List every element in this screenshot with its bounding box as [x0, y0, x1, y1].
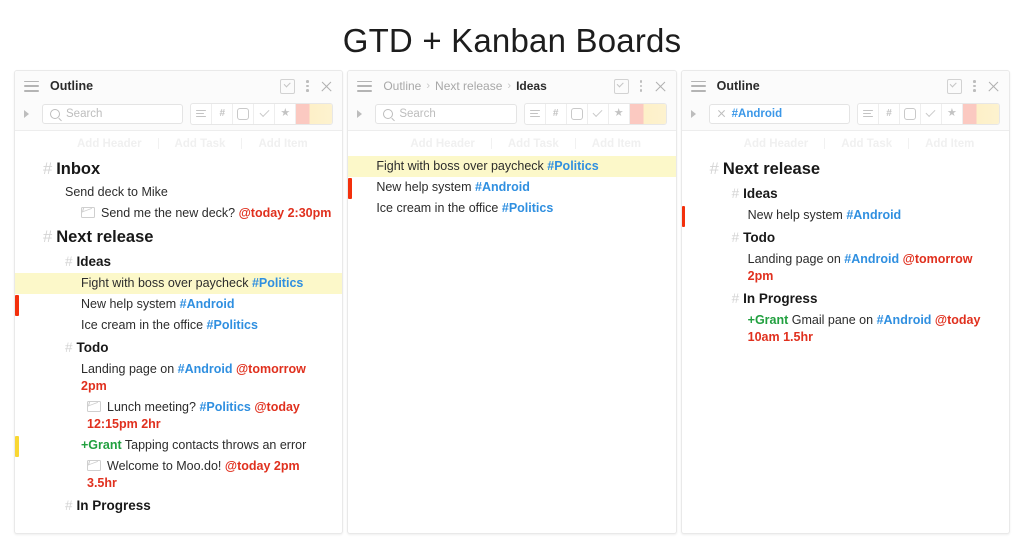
color-swatch[interactable] — [630, 104, 666, 124]
row-item[interactable]: Landing page on #Android @tomorrow 2pm — [682, 249, 1009, 287]
add-row: Add HeaderAdd TaskAdd Item — [15, 131, 342, 153]
hamburger-menu-icon[interactable] — [357, 81, 372, 92]
header-label: In Progress — [77, 498, 151, 513]
row-item[interactable]: Ice cream in the office #Politics — [348, 198, 675, 219]
panel-header: Outline›Next release›IdeasSearch#★ — [348, 71, 675, 131]
kebab-menu-icon[interactable] — [306, 80, 309, 92]
header-label: Next release — [723, 160, 820, 178]
search-placeholder: Search — [399, 108, 435, 120]
tag-label[interactable]: #Politics — [547, 159, 598, 173]
check-icon[interactable] — [921, 104, 942, 124]
add-task-button[interactable]: Add Task — [492, 138, 575, 150]
header-label: Inbox — [56, 160, 100, 178]
hash-icon[interactable]: # — [212, 104, 233, 124]
hash-prefix: # — [43, 228, 52, 246]
panel-header: Outline#Android#★ — [682, 71, 1009, 131]
view-tool-group: #★ — [524, 103, 667, 125]
star-icon[interactable]: ★ — [275, 104, 296, 124]
panel-toolbar: Search#★ — [15, 101, 342, 130]
tag-label[interactable]: #Android — [180, 297, 235, 311]
tag-label[interactable]: #Android — [178, 362, 233, 376]
add-row: Add HeaderAdd TaskAdd Item — [682, 131, 1009, 153]
row-header[interactable]: #In Progress — [15, 494, 342, 517]
hash-prefix: # — [43, 160, 52, 178]
tag-label[interactable]: #Politics — [252, 276, 303, 290]
row-header[interactable]: #Ideas — [15, 250, 342, 273]
flag-marker-red — [348, 178, 352, 199]
tag-label[interactable]: #Android — [846, 208, 901, 222]
hash-prefix: # — [732, 186, 740, 201]
panel-body: Fight with boss over paycheck #PoliticsN… — [348, 153, 675, 533]
item-text: Gmail pane on — [792, 313, 873, 327]
tag-label[interactable]: #Android — [844, 252, 899, 266]
header-icon-group — [280, 79, 333, 94]
rounded-square-icon[interactable] — [567, 104, 588, 124]
panel-body: #InboxSend deck to MikeSend me the new d… — [15, 153, 342, 533]
row-header[interactable]: #In Progress — [682, 287, 1009, 310]
row-item[interactable]: +Grant Tapping contacts throws an error — [15, 435, 342, 456]
flag-marker-red — [15, 295, 19, 316]
expand-caret-icon[interactable] — [691, 110, 696, 118]
rounded-square-icon[interactable] — [233, 104, 254, 124]
breadcrumb: Outline›Next release›Ideas — [383, 79, 546, 93]
search-input[interactable]: #Android — [709, 104, 850, 124]
search-placeholder: Search — [66, 108, 102, 120]
add-task-button[interactable]: Add Task — [159, 138, 242, 150]
panel-android: Outline#Android#★Add HeaderAdd TaskAdd I… — [681, 70, 1010, 534]
breadcrumb-item[interactable]: Outline — [383, 79, 421, 93]
row-item[interactable]: Fight with boss over paycheck #Politics — [15, 273, 342, 294]
item-text: Ice cream in the office — [81, 318, 203, 332]
envelope-icon — [81, 207, 95, 218]
add-row: Add HeaderAdd TaskAdd Item — [348, 131, 675, 153]
panel-outline: OutlineSearch#★Add HeaderAdd TaskAdd Ite… — [14, 70, 343, 534]
item-text: Fight with boss over paycheck — [81, 276, 248, 290]
row-item[interactable]: New help system #Android — [348, 177, 675, 198]
add-header-button[interactable]: Add Header — [394, 138, 491, 150]
panel-toolbar: #Android#★ — [682, 101, 1009, 130]
item-text: Landing page on — [81, 362, 174, 376]
hash-prefix: # — [65, 340, 73, 355]
hash-icon[interactable]: # — [546, 104, 567, 124]
add-task-button[interactable]: Add Task — [825, 138, 908, 150]
row-item[interactable]: New help system #Android — [682, 205, 1009, 226]
header-label: Ideas — [743, 186, 778, 201]
item-text: Landing page on — [748, 252, 841, 266]
row-header[interactable]: #Next release — [682, 156, 1009, 182]
search-icon — [50, 109, 60, 119]
hamburger-menu-icon[interactable] — [691, 81, 706, 92]
star-icon[interactable]: ★ — [942, 104, 963, 124]
add-header-button[interactable]: Add Header — [61, 138, 158, 150]
flag-marker-red — [682, 206, 686, 227]
breadcrumb-item[interactable]: Next release — [435, 79, 502, 93]
breadcrumb-separator: › — [507, 80, 511, 92]
close-icon[interactable] — [320, 80, 333, 93]
panel-title: Outline — [717, 79, 760, 93]
flag-marker-yellow — [15, 436, 19, 457]
add-header-button[interactable]: Add Header — [728, 138, 825, 150]
hash-prefix: # — [710, 160, 719, 178]
panel-title-row: Outline — [682, 71, 1009, 101]
lines-icon[interactable] — [191, 104, 212, 124]
search-icon — [383, 109, 393, 119]
kebab-menu-icon[interactable] — [973, 80, 976, 92]
hamburger-menu-icon[interactable] — [24, 81, 39, 92]
kebab-menu-icon[interactable] — [640, 80, 643, 92]
tag-label[interactable]: #Politics — [207, 318, 258, 332]
search-input[interactable]: Search — [375, 104, 516, 124]
row-item[interactable]: +Grant Gmail pane on #Android @today 10a… — [682, 310, 1009, 348]
close-icon[interactable] — [654, 80, 667, 93]
color-swatch[interactable] — [963, 104, 999, 124]
add-item-button[interactable]: Add Item — [576, 138, 657, 150]
check-icon[interactable] — [254, 104, 275, 124]
close-icon[interactable] — [987, 80, 1000, 93]
row-item[interactable]: Fight with boss over paycheck #Politics — [348, 156, 675, 177]
search-filter-value: #Android — [732, 108, 782, 120]
checkbox-icon[interactable] — [614, 79, 629, 94]
add-item-button[interactable]: Add Item — [242, 138, 323, 150]
row-item[interactable]: New help system #Android — [15, 294, 342, 315]
header-icon-group — [947, 79, 1000, 94]
panel-ideas: Outline›Next release›IdeasSearch#★Add He… — [347, 70, 676, 534]
header-label: Todo — [743, 230, 775, 245]
item-text: Send deck to Mike — [65, 185, 168, 199]
item-text: New help system — [376, 180, 471, 194]
header-label: Todo — [77, 340, 109, 355]
tag-label[interactable]: #Politics — [199, 400, 250, 414]
row-header[interactable]: #Ideas — [682, 182, 1009, 205]
checkbox-icon[interactable] — [280, 79, 295, 94]
row-header[interactable]: #Todo — [682, 226, 1009, 249]
envelope-icon — [87, 401, 101, 412]
hash-prefix: # — [732, 230, 740, 245]
panel-toolbar: Search#★ — [348, 101, 675, 130]
person-mention[interactable]: +Grant — [748, 313, 789, 327]
row-item[interactable]: Landing page on #Android @tomorrow 2pm — [15, 359, 342, 397]
item-text: Fight with boss over paycheck — [376, 159, 543, 173]
header-label: Next release — [56, 228, 153, 246]
row-item[interactable]: Lunch meeting? #Politics @today 12:15pm … — [15, 397, 342, 435]
item-text: Lunch meeting? — [107, 400, 196, 414]
add-item-button[interactable]: Add Item — [909, 138, 990, 150]
lines-icon[interactable] — [525, 104, 546, 124]
row-item[interactable]: Send deck to Mike — [15, 182, 342, 203]
view-tool-group: #★ — [190, 103, 333, 125]
row-header[interactable]: #Todo — [15, 336, 342, 359]
item-text: Send me the new deck? — [101, 206, 235, 220]
lines-icon[interactable] — [858, 104, 879, 124]
rounded-square-icon[interactable] — [900, 104, 921, 124]
person-mention[interactable]: +Grant — [81, 438, 122, 452]
row-item[interactable]: Send me the new deck? @today 2:30pm — [15, 203, 342, 224]
page-title: GTD + Kanban Boards — [0, 0, 1024, 70]
item-text: New help system — [81, 297, 176, 311]
item-text: New help system — [748, 208, 843, 222]
tag-label[interactable]: #Android — [877, 313, 932, 327]
hash-prefix: # — [65, 254, 73, 269]
panel-title-row: Outline — [15, 71, 342, 101]
expand-caret-icon[interactable] — [24, 110, 29, 118]
row-item[interactable]: Welcome to Moo.do! @today 2pm 3.5hr — [15, 456, 342, 494]
panel-title: Outline — [50, 79, 93, 93]
header-icon-group — [614, 79, 667, 94]
row-header[interactable]: #Next release — [15, 224, 342, 250]
tag-label[interactable]: #Android — [475, 180, 530, 194]
panel-body: #Next release#IdeasNew help system #Andr… — [682, 153, 1009, 533]
check-icon[interactable] — [588, 104, 609, 124]
tag-label[interactable]: #Politics — [502, 201, 553, 215]
panel-header: OutlineSearch#★ — [15, 71, 342, 131]
item-text: Tapping contacts throws an error — [125, 438, 306, 452]
hash-icon[interactable]: # — [879, 104, 900, 124]
color-swatch[interactable] — [296, 104, 332, 124]
search-input[interactable]: Search — [42, 104, 183, 124]
checkbox-icon[interactable] — [947, 79, 962, 94]
breadcrumb-item[interactable]: Ideas — [516, 79, 547, 93]
hash-prefix: # — [65, 498, 73, 513]
date-label[interactable]: @today 2:30pm — [239, 206, 332, 220]
row-item[interactable]: Ice cream in the office #Politics — [15, 315, 342, 336]
star-icon[interactable]: ★ — [609, 104, 630, 124]
view-tool-group: #★ — [857, 103, 1000, 125]
panel-title-row: Outline›Next release›Ideas — [348, 71, 675, 101]
envelope-icon — [87, 460, 101, 471]
header-label: Ideas — [77, 254, 112, 269]
expand-caret-icon[interactable] — [357, 110, 362, 118]
clear-filter-icon[interactable] — [717, 109, 726, 118]
row-header[interactable]: #Inbox — [15, 156, 342, 182]
item-text: Welcome to Moo.do! — [107, 459, 221, 473]
breadcrumb-separator: › — [426, 80, 430, 92]
item-text: Ice cream in the office — [376, 201, 498, 215]
boards-container: OutlineSearch#★Add HeaderAdd TaskAdd Ite… — [0, 70, 1024, 534]
hash-prefix: # — [732, 291, 740, 306]
header-label: In Progress — [743, 291, 817, 306]
